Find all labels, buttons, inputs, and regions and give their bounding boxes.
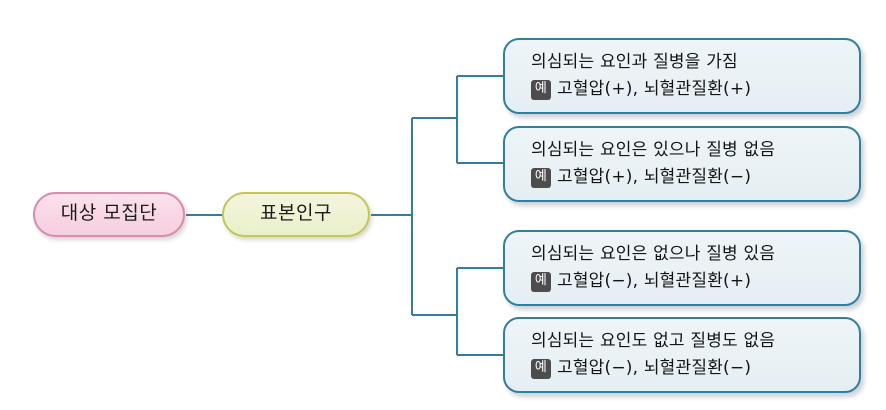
outcome-box-exposed-not-diseased: 의심되는 요인은 있으나 질병 없음 예 고혈압(+), 뇌혈관질환(−) (503, 126, 861, 202)
outcome-example-text: 고혈압(+), 뇌혈관질환(−) (557, 164, 751, 191)
example-badge-icon: 예 (531, 168, 551, 188)
node-sample-population-label: 표본인구 (260, 204, 332, 225)
example-badge-icon: 예 (531, 359, 551, 379)
outcome-example-row: 예 고혈압(−), 뇌혈관질환(+) (531, 268, 859, 295)
outcome-description: 의심되는 요인과 질병을 가짐 (531, 49, 859, 76)
outcome-example-text: 고혈압(−), 뇌혈관질환(+) (557, 268, 751, 295)
outcome-box-not-exposed-diseased: 의심되는 요인은 없으나 질병 있음 예 고혈압(−), 뇌혈관질환(+) (503, 230, 861, 306)
example-badge-icon: 예 (531, 80, 551, 100)
outcome-example-row: 예 고혈압(−), 뇌혈관질환(−) (531, 355, 859, 382)
node-target-population-label: 대상 모집단 (61, 204, 157, 225)
outcome-example-text: 고혈압(−), 뇌혈관질환(−) (557, 355, 751, 382)
outcome-example-text: 고혈압(+), 뇌혈관질환(+) (557, 76, 751, 103)
node-target-population: 대상 모집단 (33, 192, 185, 237)
node-sample-population: 표본인구 (222, 192, 370, 237)
outcome-box-not-exposed-not-diseased: 의심되는 요인도 없고 질병도 없음 예 고혈압(−), 뇌혈관질환(−) (503, 317, 861, 393)
example-badge-icon: 예 (531, 272, 551, 292)
outcome-description: 의심되는 요인도 없고 질병도 없음 (531, 328, 859, 355)
outcome-example-row: 예 고혈압(+), 뇌혈관질환(−) (531, 164, 859, 191)
outcome-box-exposed-diseased: 의심되는 요인과 질병을 가짐 예 고혈압(+), 뇌혈관질환(+) (503, 38, 861, 114)
diagram-canvas: 대상 모집단 표본인구 의심되는 요인과 질병을 가짐 예 고혈압(+), 뇌혈… (0, 0, 886, 410)
outcome-description: 의심되는 요인은 있으나 질병 없음 (531, 137, 859, 164)
outcome-example-row: 예 고혈압(+), 뇌혈관질환(+) (531, 76, 859, 103)
outcome-description: 의심되는 요인은 없으나 질병 있음 (531, 241, 859, 268)
